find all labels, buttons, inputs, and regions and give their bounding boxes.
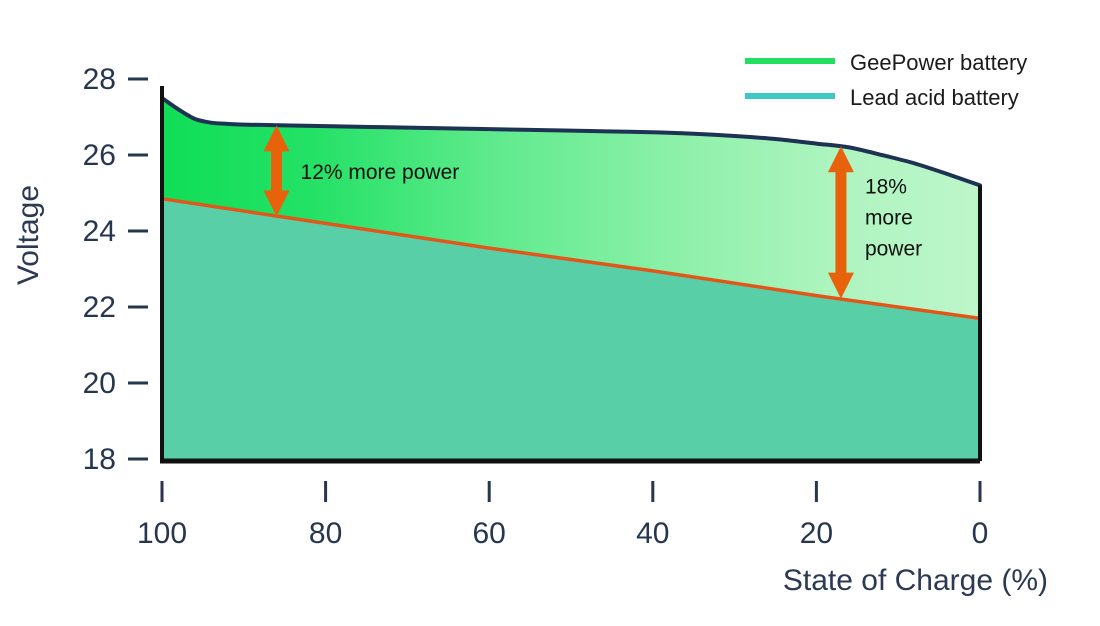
x-tick-label-100: 100 xyxy=(137,517,187,550)
x-tick-label-80: 80 xyxy=(309,517,342,550)
annotation-18-percent-label-line-2: power xyxy=(865,237,922,260)
legend-label-geepower: GeePower battery xyxy=(850,50,1027,75)
legend: GeePower battery Lead acid battery xyxy=(745,50,1027,110)
legend-label-lead-acid: Lead acid battery xyxy=(850,85,1019,110)
chart-canvas: 282624222018 100806040200 Voltage State … xyxy=(0,0,1100,621)
x-axis-title: State of Charge (%) xyxy=(783,564,1048,597)
x-tick-label-20: 20 xyxy=(800,517,833,550)
y-tick-label-20: 20 xyxy=(83,367,116,400)
voltage-state-of-charge-chart: 282624222018 100806040200 Voltage State … xyxy=(0,0,1100,621)
x-axis-ticks: 100806040200 xyxy=(137,481,988,550)
y-axis-ticks: 282624222018 xyxy=(83,63,148,476)
y-axis-title: Voltage xyxy=(12,185,45,285)
y-tick-label-24: 24 xyxy=(83,215,116,248)
y-tick-label-18: 18 xyxy=(83,443,116,476)
x-tick-label-0: 0 xyxy=(972,517,989,550)
y-tick-label-28: 28 xyxy=(83,63,116,96)
annotation-18-percent-label-line-0: 18% xyxy=(865,175,907,198)
y-tick-label-26: 26 xyxy=(83,139,116,172)
plot-area xyxy=(162,98,980,461)
y-tick-label-22: 22 xyxy=(83,291,116,324)
annotation-18-percent-label-line-1: more xyxy=(865,206,913,229)
x-tick-label-40: 40 xyxy=(636,517,669,550)
annotation-12-percent-label-line-0: 12% more power xyxy=(301,161,460,184)
x-tick-label-60: 60 xyxy=(473,517,506,550)
